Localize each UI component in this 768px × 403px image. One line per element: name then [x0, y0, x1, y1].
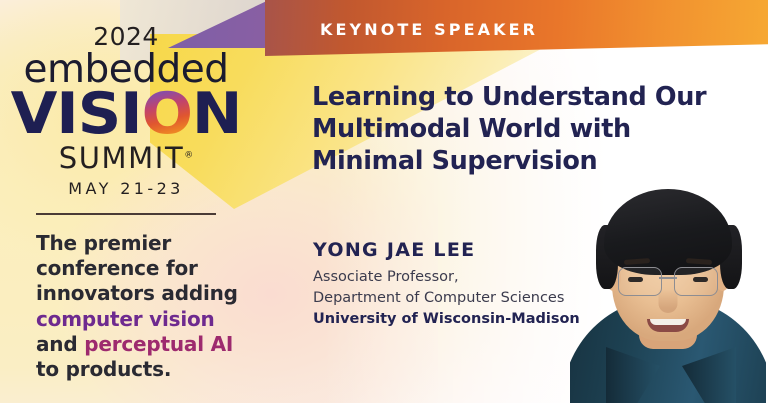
- vision-text-pre: VISI: [11, 81, 142, 147]
- event-branding-panel: 2024 embedded VISION SUMMIT® MAY 21-23 T…: [0, 0, 252, 403]
- tagline-part-3: to products.: [36, 357, 171, 381]
- portrait-lens-right: [674, 267, 718, 296]
- speaker-organization: University of Wisconsin-Madison: [313, 309, 613, 330]
- event-tagline: The premier conference for innovators ad…: [36, 231, 254, 382]
- speaker-portrait-photo: [570, 173, 766, 403]
- speaker-role: Associate Professor,: [313, 267, 613, 288]
- speaker-department: Department of Computer Sciences: [313, 288, 613, 309]
- portrait-nose: [659, 289, 678, 313]
- portrait-teeth: [650, 319, 686, 325]
- tagline-part-1: The premier conference for innovators ad…: [36, 231, 238, 305]
- speaker-name: YONG JAE LEE: [313, 239, 475, 261]
- speaker-affiliation: Associate Professor, Department of Compu…: [313, 267, 613, 330]
- vision-gradient-o: O: [142, 81, 192, 147]
- event-name-summit: SUMMIT®: [0, 143, 252, 173]
- event-year: 2024: [0, 24, 252, 49]
- event-logo: 2024 embedded VISION SUMMIT® MAY 21-23: [0, 24, 252, 198]
- portrait-mouth: [647, 319, 689, 332]
- tagline-highlight-computer-vision: computer vision: [36, 307, 215, 331]
- tagline-part-2: and: [36, 332, 84, 356]
- portrait-lens-left: [618, 267, 662, 296]
- event-name-vision: VISION: [0, 87, 260, 141]
- tagline-highlight-perceptual-ai: perceptual AI: [84, 332, 233, 356]
- registered-trademark-icon: ®: [184, 150, 193, 160]
- keynote-speaker-poster: KEYNOTE SPEAKER 2024 embedded VISION SUM…: [0, 0, 768, 403]
- event-dates: MAY 21-23: [0, 179, 252, 198]
- keynote-speaker-label: KEYNOTE SPEAKER: [320, 20, 538, 39]
- vision-text-post: N: [192, 81, 242, 147]
- section-divider: [36, 213, 216, 215]
- talk-title: Learning to Understand Our Multimodal Wo…: [312, 81, 732, 177]
